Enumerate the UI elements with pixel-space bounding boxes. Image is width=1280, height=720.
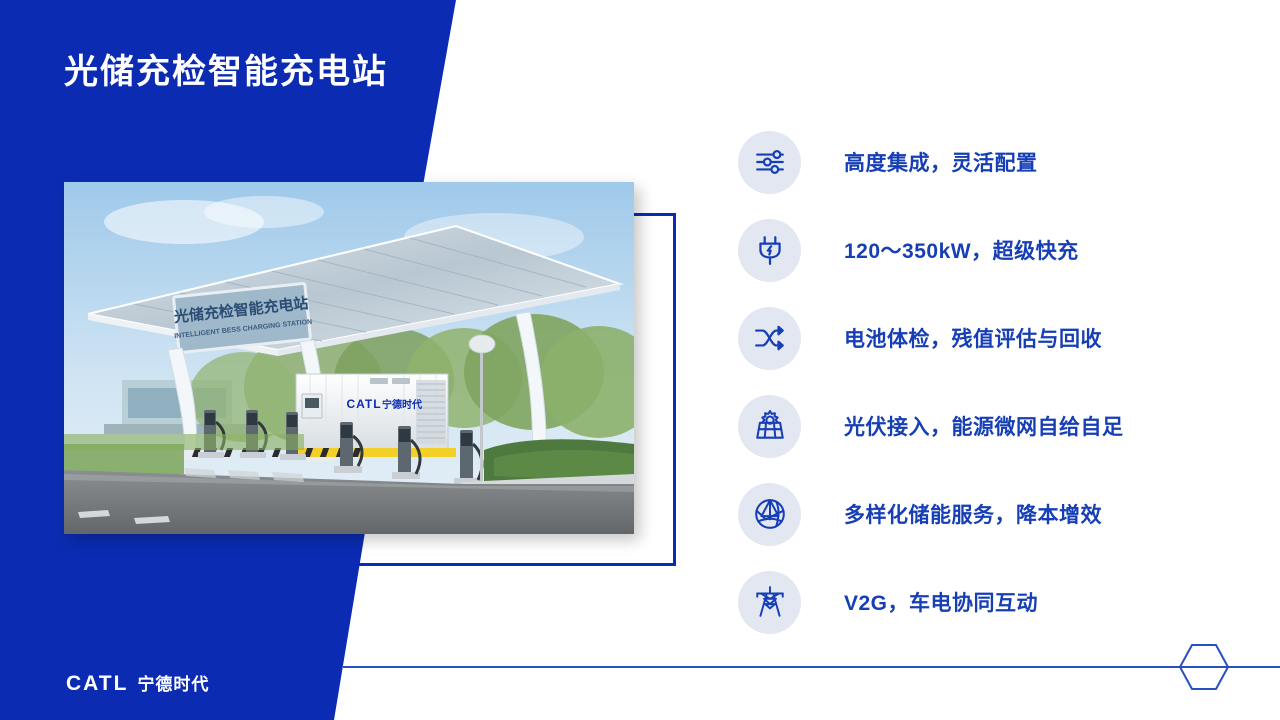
feature-label: 光伏接入，能源微网自给自足: [844, 411, 1124, 441]
feature-item[interactable]: V2G，车电协同互动: [738, 558, 1238, 646]
catl-logo-en: CATL: [66, 672, 128, 696]
svg-text:宁德时代: 宁德时代: [382, 398, 422, 411]
power-plug-icon: [738, 219, 801, 282]
svg-text:CATL: CATL: [346, 397, 381, 411]
footer-divider-line: [343, 666, 1280, 668]
feature-label: 多样化储能服务，降本增效: [844, 499, 1102, 529]
shuffle-icon: [738, 307, 801, 370]
station-photo-illustration: 光储充检智能充电站 INTELLIGENT BESS CHARGING STAT…: [64, 182, 634, 534]
feature-label: 120～350kW，超级快充: [844, 235, 1079, 265]
solar-panel-icon: [738, 395, 801, 458]
globe-network-icon: [738, 483, 801, 546]
slide-root: 光储充检智能充电站: [0, 0, 1280, 720]
feature-item[interactable]: 电池体检，残值评估与回收: [738, 294, 1238, 382]
feature-item[interactable]: 高度集成，灵活配置: [738, 118, 1238, 206]
sliders-icon: [738, 131, 801, 194]
feature-label: 电池体检，残值评估与回收: [844, 323, 1102, 353]
page-title: 光储充检智能充电站: [64, 44, 388, 93]
catl-logo-cn: 宁德时代: [137, 670, 209, 695]
feature-item[interactable]: 120～350kW，超级快充: [738, 206, 1238, 294]
feature-label: V2G，车电协同互动: [844, 587, 1038, 617]
feature-item[interactable]: 多样化储能服务，降本增效: [738, 470, 1238, 558]
catl-logo: CATL 宁德时代: [66, 670, 209, 696]
feature-item[interactable]: 光伏接入，能源微网自给自足: [738, 382, 1238, 470]
station-photo: 光储充检智能充电站 INTELLIGENT BESS CHARGING STAT…: [64, 182, 634, 534]
feature-list: 高度集成，灵活配置 120～350kW，超级快充: [738, 118, 1238, 646]
transmission-tower-icon: [738, 571, 801, 634]
hexagon-decoration-icon: [1178, 641, 1230, 693]
feature-label: 高度集成，灵活配置: [844, 147, 1038, 177]
